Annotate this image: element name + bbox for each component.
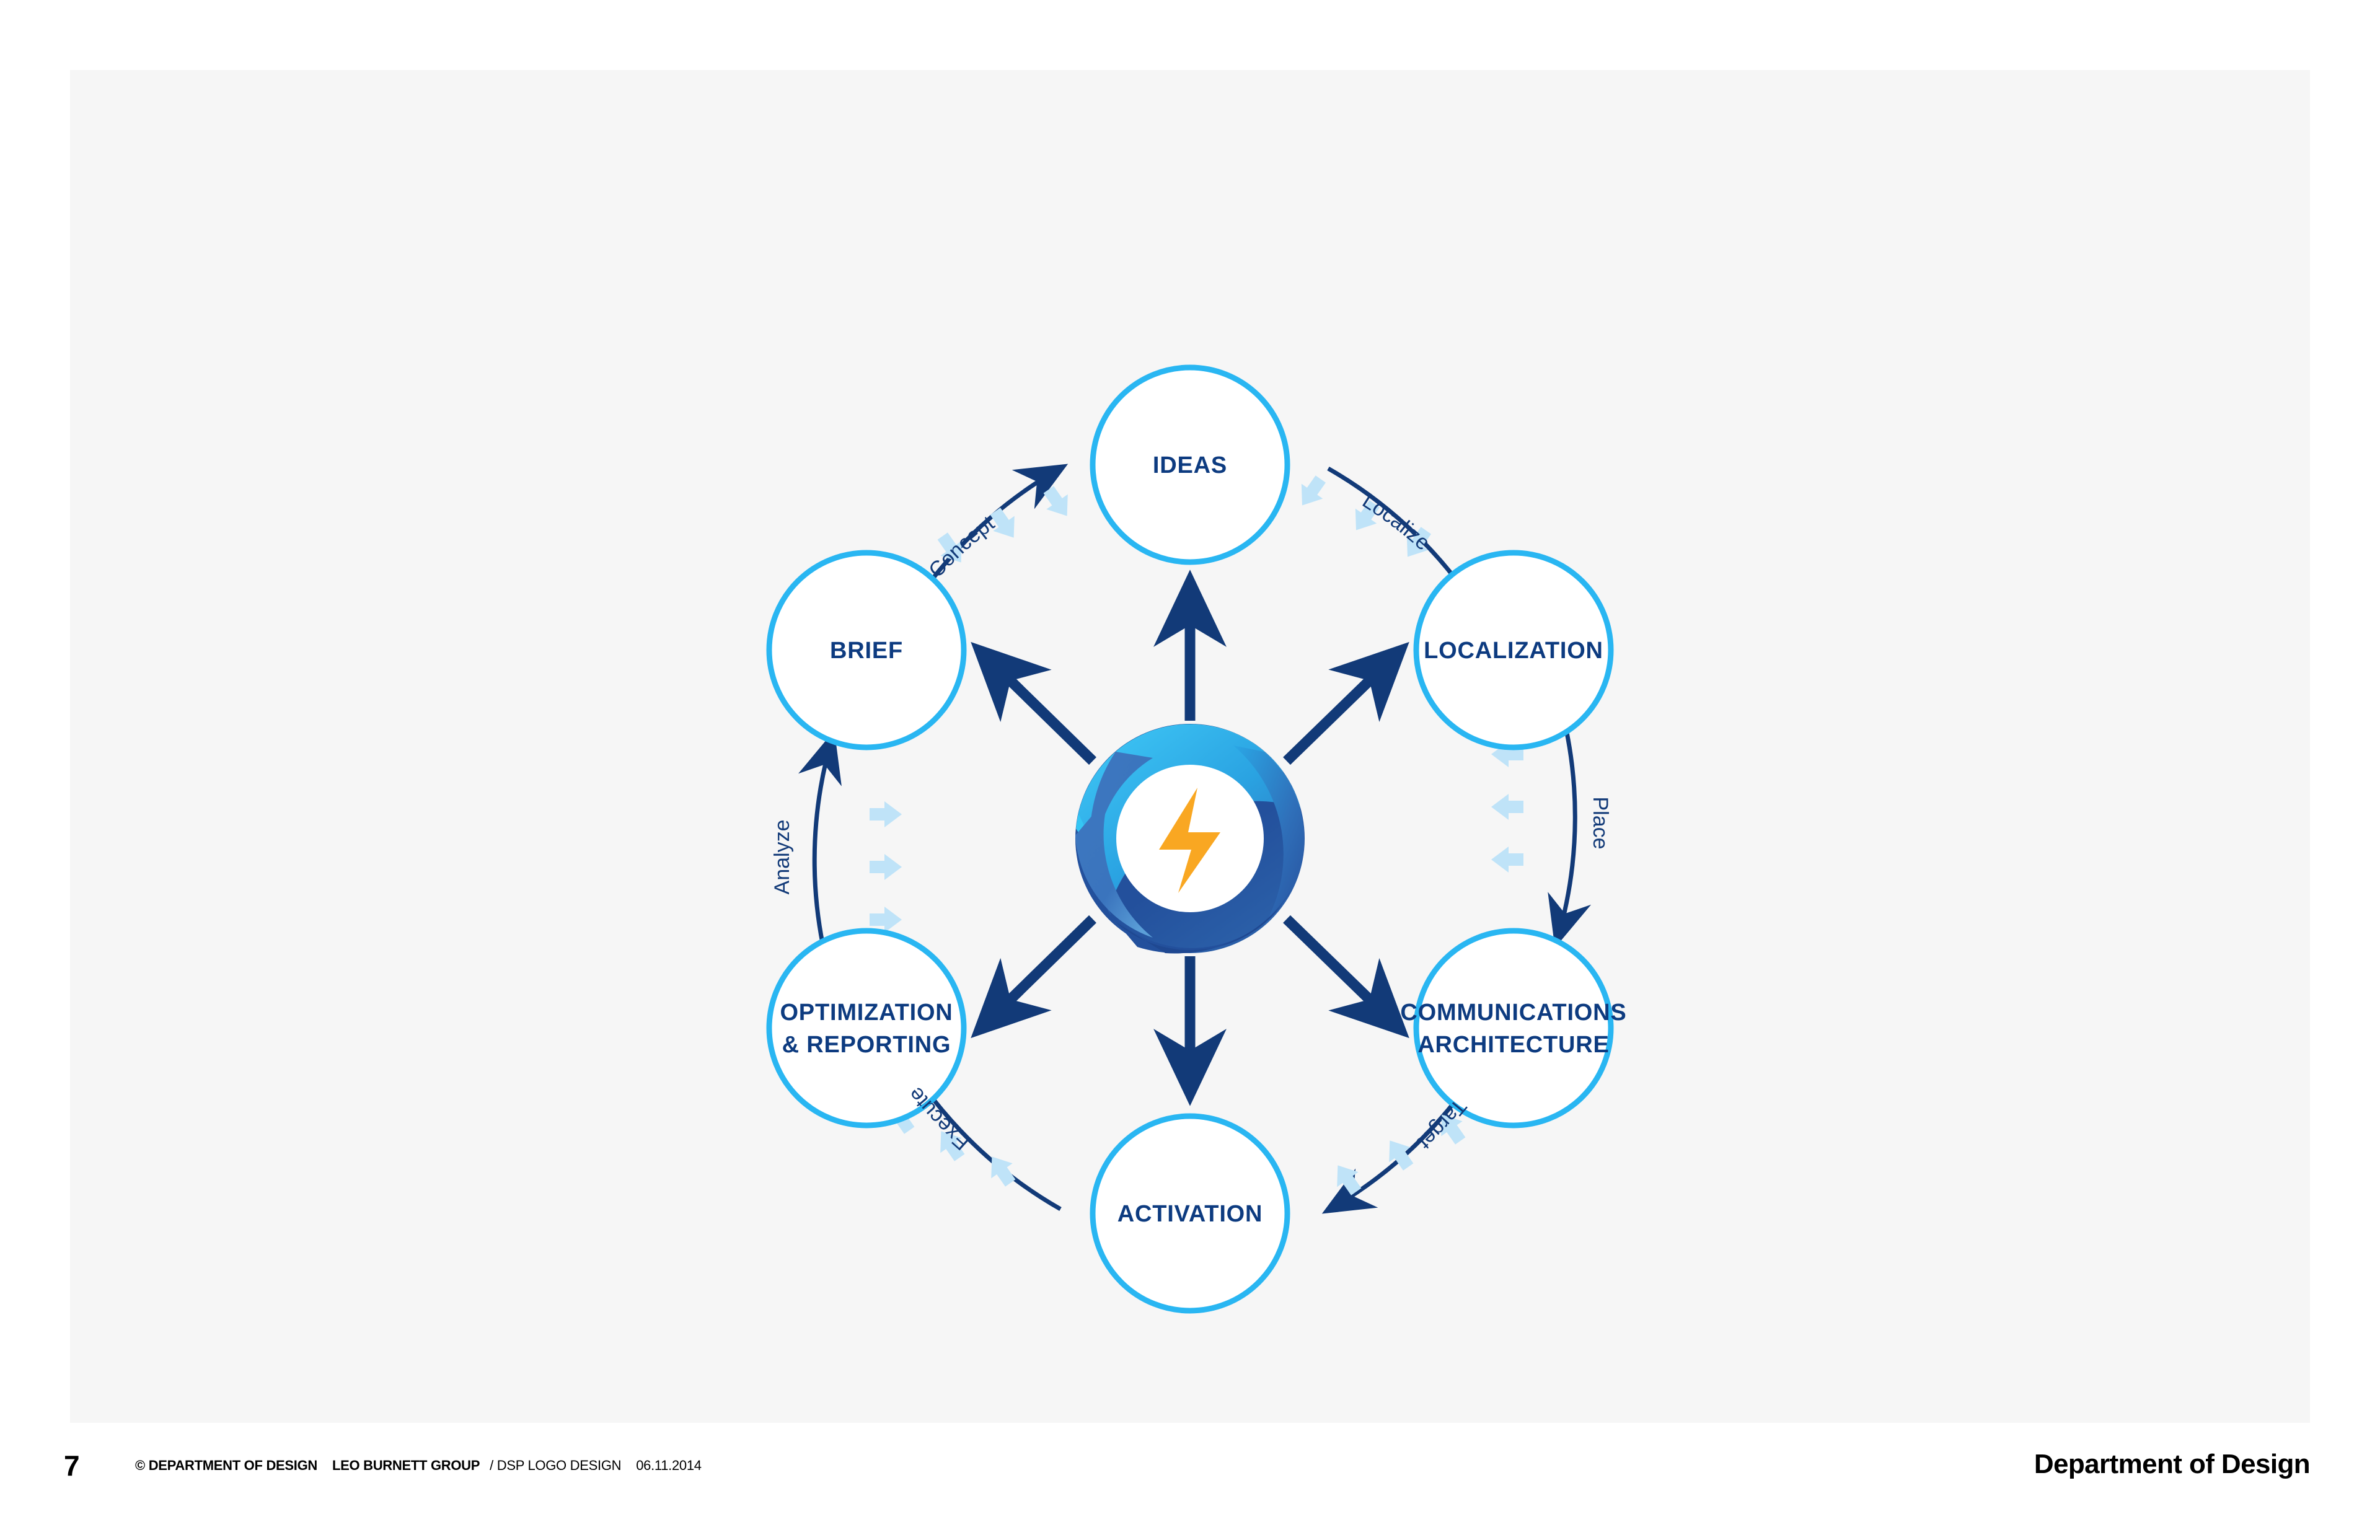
footer-project: / DSP LOGO DESIGN — [490, 1458, 621, 1473]
slide-page: IDEAS LOCALIZATION COMMUNICATIONS ARCHIT… — [0, 0, 2380, 1540]
dsp-logo — [1075, 724, 1305, 954]
radial-arrow-brief — [985, 656, 1093, 761]
node-communications-architecture-label-line1: COMMUNICATIONS — [1400, 1000, 1626, 1026]
chevrons-analyze — [870, 801, 902, 933]
node-ideas[interactable]: IDEAS — [1093, 367, 1287, 562]
node-localization-label: LOCALIZATION — [1424, 638, 1603, 664]
node-activation[interactable]: ACTIVATION — [1093, 1116, 1287, 1311]
edge-label-target: Target — [1413, 1094, 1471, 1154]
footer-brand: Department of Design — [2034, 1449, 2310, 1480]
node-optimization-reporting[interactable]: OPTIMIZATION & REPORTING — [769, 931, 964, 1125]
node-localization[interactable]: LOCALIZATION — [1416, 553, 1611, 747]
footer-client: LEO BURNETT GROUP — [332, 1458, 480, 1473]
radial-arrow-communications-architecture — [1287, 919, 1395, 1024]
edge-label-place: Place — [1589, 796, 1612, 849]
radial-arrow-optimization-reporting — [985, 919, 1093, 1024]
node-ideas-label: IDEAS — [1153, 452, 1227, 478]
node-activation-label: ACTIVATION — [1117, 1201, 1263, 1227]
node-optimization-reporting-label-line1: OPTIMIZATION — [780, 1000, 953, 1026]
node-brief[interactable]: BRIEF — [769, 553, 964, 747]
edge-label-concept: Concept — [924, 511, 999, 583]
node-communications-architecture[interactable]: COMMUNICATIONS ARCHITECTURE — [1400, 931, 1626, 1125]
page-number: 7 — [64, 1449, 79, 1482]
slide-canvas: IDEAS LOCALIZATION COMMUNICATIONS ARCHIT… — [70, 70, 2310, 1423]
node-communications-architecture-label-line2: ARCHITECTURE — [1417, 1032, 1609, 1058]
slide-footer: 7 © DEPARTMENT OF DESIGNLEO BURNETT GROU… — [0, 1444, 2380, 1500]
footer-credit-line: © DEPARTMENT OF DESIGNLEO BURNETT GROUP/… — [135, 1458, 702, 1474]
chevrons-concept — [932, 482, 1078, 570]
footer-copyright: © DEPARTMENT OF DESIGN — [135, 1458, 317, 1473]
edge-label-analyze: Analyze — [770, 820, 794, 895]
cycle-diagram: IDEAS LOCALIZATION COMMUNICATIONS ARCHIT… — [70, 70, 2310, 1423]
radial-arrow-localization — [1287, 656, 1395, 761]
node-optimization-reporting-label-line2: & REPORTING — [782, 1032, 951, 1058]
chevrons-place — [1491, 741, 1523, 873]
footer-date: 06.11.2014 — [636, 1458, 701, 1473]
node-brief-label: BRIEF — [830, 638, 903, 664]
